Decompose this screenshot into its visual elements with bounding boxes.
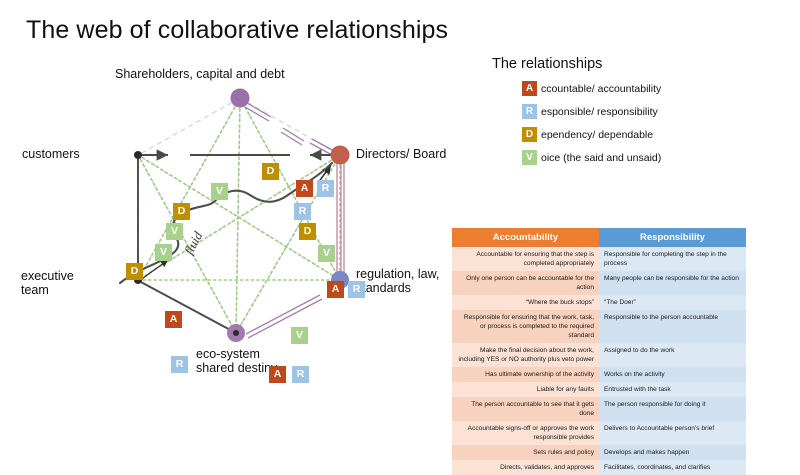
diagram-badge-d: D xyxy=(173,203,190,220)
table-row: Has ultimate ownership of the activityWo… xyxy=(452,367,746,382)
legend-key-r-icon: R xyxy=(522,104,537,119)
diagram-badge-r: R xyxy=(292,366,309,383)
table-row: Make the final decision about the work, … xyxy=(452,343,746,367)
diagram-badge-v: V xyxy=(166,223,183,240)
table-header-accountability: Accountability xyxy=(452,228,599,247)
table-cell-accountability: Liable for any faults xyxy=(452,382,599,397)
table-cell-responsibility: Responsible for completing the step in t… xyxy=(599,247,746,271)
table-cell-responsibility: Many people can be responsible for the a… xyxy=(599,271,746,295)
node-customers xyxy=(134,151,142,159)
diagram-badge-r: R xyxy=(171,356,188,373)
table-cell-responsibility: Responsible to the person accountable xyxy=(599,310,746,343)
diagram-badge-v: V xyxy=(211,183,228,200)
legend-key-v-icon: V xyxy=(522,150,537,165)
legend-rows: Accountable/ accountabilityResponsible/ … xyxy=(492,81,792,165)
legend-text-v: oice (the said and unsaid) xyxy=(541,152,661,164)
table-header-row: Accountability Responsibility xyxy=(452,228,746,247)
table-cell-accountability: Sets rules and policy xyxy=(452,445,599,460)
table-row: Liable for any faultsEntrusted with the … xyxy=(452,382,746,397)
table-cell-accountability: Has ultimate ownership of the activity xyxy=(452,367,599,382)
table-row: Directs, validates, and approvesFacilita… xyxy=(452,460,746,475)
table-row: Responsible for ensuring that the work, … xyxy=(452,310,746,343)
diagram-badge-v: V xyxy=(318,245,335,262)
table-header-responsibility: Responsibility xyxy=(599,228,746,247)
diagram-badge-r: R xyxy=(348,281,365,298)
accountability-responsibility-table: Accountability Responsibility Accountabl… xyxy=(452,228,746,475)
table-cell-accountability: Accountable signs-off or approves the wo… xyxy=(452,421,599,445)
node-label-ecosystem: eco-system shared destiny xyxy=(196,347,277,375)
legend-item-r: Responsible/ responsibility xyxy=(492,104,792,119)
table-row: Only one person can be accountable for t… xyxy=(452,271,746,295)
legend-key-d-icon: D xyxy=(522,127,537,142)
table-cell-responsibility: Assigned to do the work xyxy=(599,343,746,367)
diagram-badge-v: V xyxy=(291,327,308,344)
table-cell-responsibility: Delivers to Accountable person’s brief xyxy=(599,421,746,445)
table-header: Accountability Responsibility xyxy=(452,228,746,247)
table-cell-accountability: “Where the buck stops” xyxy=(452,295,599,310)
table-cell-responsibility: Facilitates, coordinates, and clarifies xyxy=(599,460,746,475)
legend-key-a-icon: A xyxy=(522,81,537,96)
table-cell-responsibility: Develops and makes happen xyxy=(599,445,746,460)
slide-canvas: The web of collaborative relationships xyxy=(0,0,800,450)
table-row: Accountable signs-off or approves the wo… xyxy=(452,421,746,445)
node-label-shareholders: Shareholders, capital and debt xyxy=(115,67,285,81)
relationships-legend: The relationships Accountable/ accountab… xyxy=(492,56,792,173)
legend-item-d: Dependency/ dependable xyxy=(492,127,792,142)
legend-text-a: ccountable/ accountability xyxy=(541,83,661,95)
diagram-badge-a: A xyxy=(269,366,286,383)
node-shareholders xyxy=(231,89,250,108)
collaboration-web-diagram: Shareholders, capital and debt Directors… xyxy=(0,55,450,395)
table-cell-accountability: Only one person can be accountable for t… xyxy=(452,271,599,295)
node-directors xyxy=(331,146,350,165)
table-body: Accountable for ensuring that the step i… xyxy=(452,247,746,475)
page-title: The web of collaborative relationships xyxy=(26,16,448,45)
diagram-badge-d: D xyxy=(126,263,143,280)
table-row: Sets rules and policyDevelops and makes … xyxy=(452,445,746,460)
diagram-badge-a: A xyxy=(165,311,182,328)
node-label-directors: Directors/ Board xyxy=(356,147,446,161)
node-label-regulation: regulation, law, standards xyxy=(356,267,439,295)
table-cell-responsibility: Entrusted with the task xyxy=(599,382,746,397)
diagram-badge-r: R xyxy=(294,203,311,220)
legend-item-a: Accountable/ accountability xyxy=(492,81,792,96)
node-label-executive: executive team xyxy=(21,269,74,297)
legend-text-r: esponsible/ responsibility xyxy=(541,106,658,118)
table-row: “Where the buck stops”“The Doer” xyxy=(452,295,746,310)
legend-item-v: Voice (the said and unsaid) xyxy=(492,150,792,165)
diagram-badge-a: A xyxy=(327,281,344,298)
diagram-badge-r: R xyxy=(317,180,334,197)
table-cell-accountability: Make the final decision about the work, … xyxy=(452,343,599,367)
diagram-badge-v: V xyxy=(155,244,172,261)
diagram-badge-d: D xyxy=(262,163,279,180)
table-cell-accountability: Directs, validates, and approves xyxy=(452,460,599,475)
legend-title: The relationships xyxy=(492,56,792,72)
table-cell-accountability: The person accountable to see that it ge… xyxy=(452,397,599,421)
table-cell-responsibility: “The Doer” xyxy=(599,295,746,310)
diagram-badge-d: D xyxy=(299,223,316,240)
table-cell-accountability: Accountable for ensuring that the step i… xyxy=(452,247,599,271)
table-row: The person accountable to see that it ge… xyxy=(452,397,746,421)
table-row: Accountable for ensuring that the step i… xyxy=(452,247,746,271)
node-label-customers: customers xyxy=(22,147,80,161)
table-cell-responsibility: Works on the activity xyxy=(599,367,746,382)
diagram-badge-a: A xyxy=(296,180,313,197)
diagram-edges xyxy=(0,55,450,395)
table-cell-accountability: Responsible for ensuring that the work, … xyxy=(452,310,599,343)
legend-text-d: ependency/ dependable xyxy=(541,129,653,141)
table-cell-responsibility: The person responsible for doing it xyxy=(599,397,746,421)
